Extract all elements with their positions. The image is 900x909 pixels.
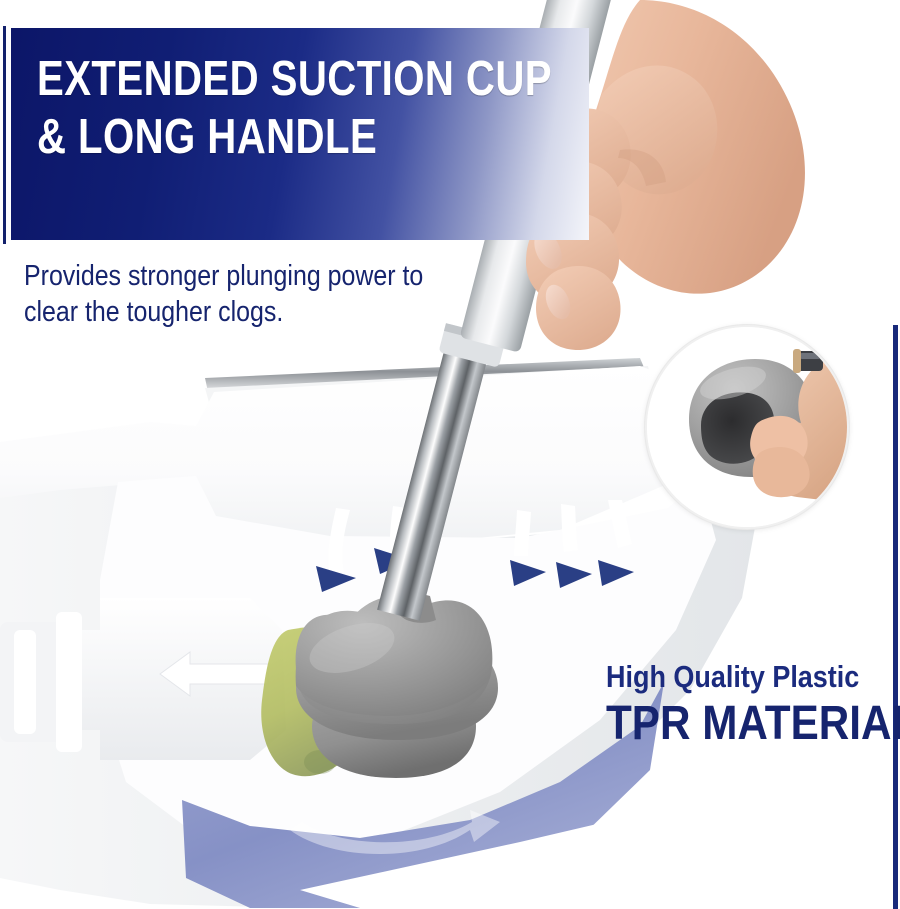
- feature-callout: High Quality Plastic TPR MATERIAL: [606, 660, 900, 750]
- headline-line-2: & LONG HANDLE: [37, 108, 481, 166]
- headline-banner: EXTENDED SUCTION CUP & LONG HANDLE: [11, 28, 589, 240]
- product-infographic: EXTENDED SUCTION CUP & LONG HANDLE Provi…: [0, 0, 900, 909]
- right-accent-rule: [893, 325, 898, 909]
- headline-line-1: EXTENDED SUCTION CUP: [37, 50, 481, 108]
- detail-inset-circle: [645, 325, 849, 529]
- subheading-description: Provides stronger plunging power to clea…: [24, 258, 471, 330]
- inset-hand-squeezing-cup: [647, 327, 847, 527]
- left-accent-rule: [3, 26, 6, 244]
- headline-banner-text: EXTENDED SUCTION CUP & LONG HANDLE: [37, 50, 579, 166]
- feature-sub-label: High Quality Plastic: [606, 660, 867, 694]
- feature-main-label: TPR MATERIAL: [606, 698, 870, 750]
